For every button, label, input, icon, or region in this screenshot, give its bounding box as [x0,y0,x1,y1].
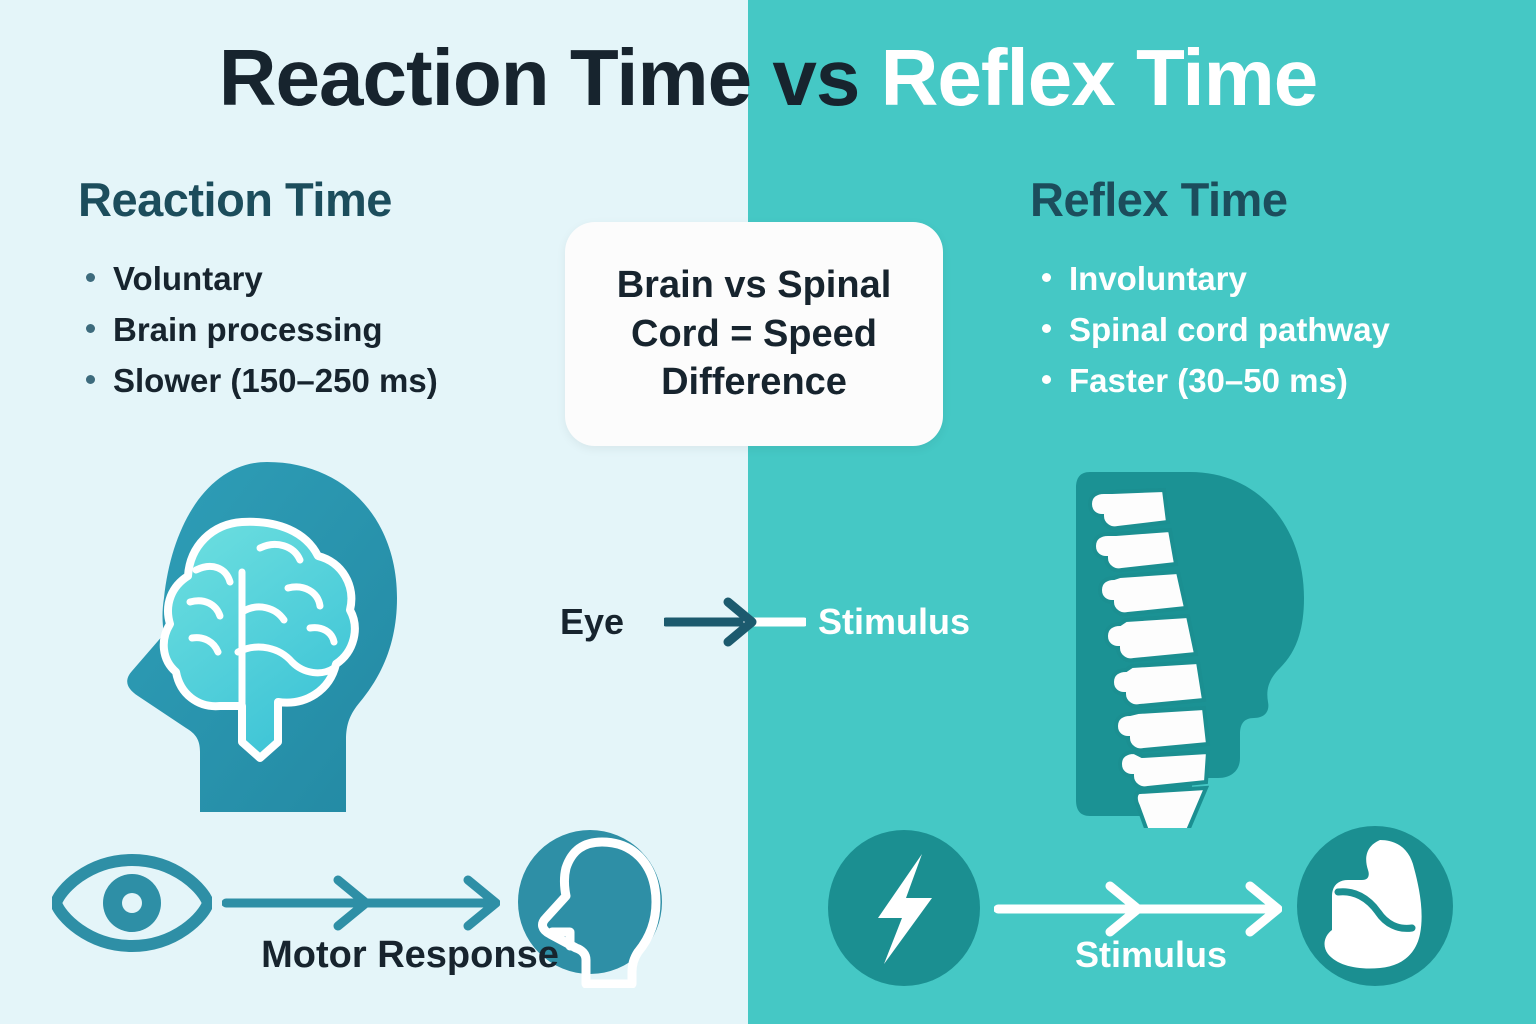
bullet-dot-icon [1042,375,1051,384]
bottom-left-flow: Motor Response [44,826,694,1006]
arrow-right-icon [222,874,500,937]
list-item-label: Spinal cord pathway [1069,313,1390,346]
bottom-right-flow-label: Stimulus [986,934,1316,976]
list-item-label: Involuntary [1069,262,1247,295]
middle-target-label: Stimulus [818,592,970,652]
list-item: Faster (30–50 ms) [1042,364,1390,397]
list-item: Voluntary [86,262,438,295]
bullet-dot-icon [86,375,95,384]
bullet-dot-icon [1042,273,1051,282]
arrow-right-icon [664,596,806,653]
bottom-right-flow: Stimulus [826,822,1486,1002]
bottom-left-flow-label: Motor Response [240,934,580,977]
bullet-dot-icon [86,273,95,282]
flexed-biceps-icon [1294,822,1456,995]
title-right-part: Reflex Time [881,33,1318,122]
list-item-label: Voluntary [113,262,263,295]
right-column-heading: Reflex Time [1030,172,1287,227]
left-column-heading: Reaction Time [78,172,392,227]
middle-source-label: Eye [560,592,624,652]
list-item-label: Slower (150–250 ms) [113,364,438,397]
list-item-label: Brain processing [113,313,383,346]
eye-icon [52,848,212,963]
list-item-label: Faster (30–50 ms) [1069,364,1348,397]
title-left-part: Reaction Time [219,33,751,122]
bullet-dot-icon [86,324,95,333]
page-title: Reaction Time vs Reflex Time [0,36,1536,120]
title-vs-part: vs [772,33,859,122]
middle-flow-row: Eye Stimulus [0,592,1536,652]
list-item: Spinal cord pathway [1042,313,1390,346]
center-summary-card: Brain vs Spinal Cord = Speed Difference [565,222,943,446]
bullet-dot-icon [1042,324,1051,333]
list-item: Involuntary [1042,262,1390,295]
lightning-bolt-icon [826,828,982,993]
list-item: Slower (150–250 ms) [86,364,438,397]
left-bullet-list: Voluntary Brain processing Slower (150–2… [86,262,438,415]
infographic-poster: Reaction Time vs Reflex Time Reaction Ti… [0,0,1536,1024]
list-item: Brain processing [86,313,438,346]
center-summary-text: Brain vs Spinal Cord = Speed Difference [565,261,943,407]
right-bullet-list: Involuntary Spinal cord pathway Faster (… [1042,262,1390,415]
